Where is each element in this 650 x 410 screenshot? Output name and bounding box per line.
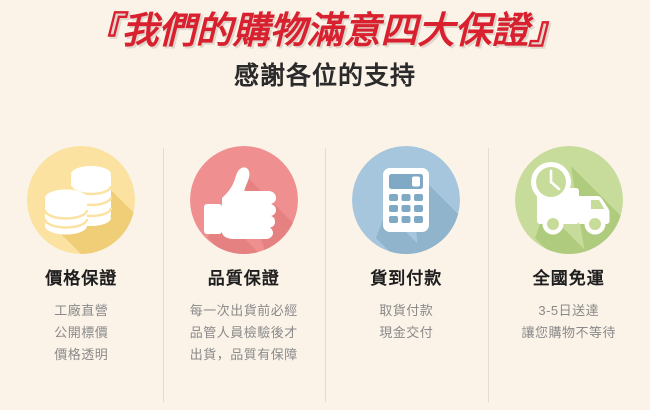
delivery-truck-clock-icon	[515, 146, 623, 254]
coins-icon	[27, 146, 135, 254]
feature-item-quality-guarantee[interactable]: 品質保證 每一次出貨前必經 品管人員檢驗後才 出貨，品質有保障	[163, 140, 326, 410]
feature-description: 取貨付款 現金交付	[325, 300, 488, 344]
feature-line: 出貨，品質有保障	[163, 344, 326, 366]
feature-title: 價格保證	[0, 268, 163, 290]
feature-line: 工廠直營	[0, 300, 163, 322]
feature-item-price-guarantee[interactable]: 價格保證 工廠直營 公開標價 價格透明	[0, 140, 163, 410]
feature-line: 現金交付	[325, 322, 488, 344]
feature-line: 讓您購物不等待	[488, 322, 650, 344]
feature-list: 價格保證 工廠直營 公開標價 價格透明 品質保證 每一次出貨前必經 品管人員檢驗…	[0, 140, 650, 410]
feature-line: 取貨付款	[325, 300, 488, 322]
feature-title: 品質保證	[163, 268, 326, 290]
feature-description: 3-5日送達 讓您購物不等待	[488, 300, 650, 344]
banner-header: 『我們的購物滿意四大保證』 感謝各位的支持	[0, 0, 650, 94]
feature-line: 品管人員檢驗後才	[163, 322, 326, 344]
feature-item-free-shipping[interactable]: 全國免運 3-5日送達 讓您購物不等待	[488, 140, 650, 410]
feature-item-cash-on-delivery[interactable]: 貨到付款 取貨付款 現金交付	[325, 140, 488, 410]
page-title: 『我們的購物滿意四大保證』	[0, 8, 650, 54]
feature-line: 公開標價	[0, 322, 163, 344]
feature-description: 每一次出貨前必經 品管人員檢驗後才 出貨，品質有保障	[163, 300, 326, 366]
feature-line: 價格透明	[0, 344, 163, 366]
feature-line: 每一次出貨前必經	[163, 300, 326, 322]
feature-title: 貨到付款	[325, 268, 488, 290]
feature-description: 工廠直營 公開標價 價格透明	[0, 300, 163, 366]
thumbs-up-icon	[190, 146, 298, 254]
calculator-icon	[352, 146, 460, 254]
feature-line: 3-5日送達	[488, 300, 650, 322]
page-subtitle: 感謝各位的支持	[0, 58, 650, 94]
feature-title: 全國免運	[488, 268, 650, 290]
